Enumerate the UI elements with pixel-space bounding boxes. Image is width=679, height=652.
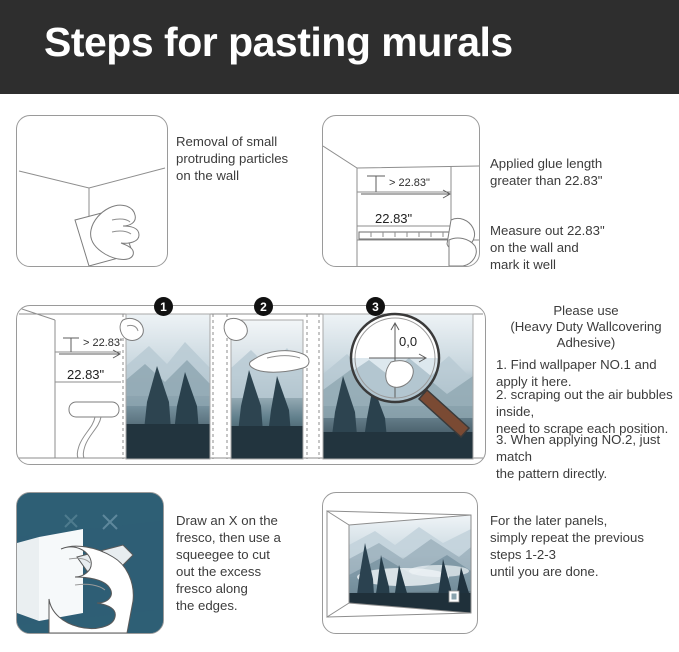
step2-measure-label: 22.83" (375, 211, 413, 226)
step3-measure-label: 22.83" (67, 367, 105, 382)
step3-item-2: 2. scraping out the air bubbles inside, … (496, 386, 679, 437)
wall-corner-wipe-icon (17, 116, 167, 266)
step1-caption: Removal of small protruding particles on… (176, 133, 326, 184)
header-bar: Steps for pasting murals (0, 0, 679, 94)
step4-illustration-panel (16, 492, 164, 634)
step3-item-1: 1. Find wallpaper NO.1 and apply it here… (496, 356, 679, 390)
step-badge-3: 3 (366, 297, 385, 316)
step2-caption-a: Applied glue length greater than 22.83" (490, 155, 670, 189)
step1-illustration-panel (16, 115, 168, 267)
step5-illustration-panel (322, 492, 478, 634)
step-badge-1: 1 (154, 297, 173, 316)
wall-panels-roller-magnifier-icon: > 22.83" 22.83" (17, 306, 485, 464)
step-badge-2: 2 (254, 297, 273, 316)
step3-heading-line1: Please use (553, 303, 618, 318)
hand-squeegee-cut-x-icon (17, 493, 163, 633)
step3-heading-line2: (Heavy Duty Wallcovering Adhesive) (510, 319, 661, 350)
step5-caption: For the later panels, simply repeat the … (490, 512, 679, 580)
magnifier-origin-label: 0,0 (399, 334, 417, 349)
step2-gt-label: > 22.83" (389, 177, 430, 189)
step4-caption: Draw an X on the fresco, then use a sque… (176, 512, 336, 614)
step3-heading: Please use(Heavy Duty Wallcovering Adhes… (496, 303, 676, 351)
finished-room-mural-icon (323, 493, 477, 633)
step3-gt-label: > 22.83" (83, 337, 124, 349)
step3-item-3: 3. When applying NO.2, just match the pa… (496, 431, 679, 482)
wall-measure-mark-icon: > 22.83" 22.83" (323, 116, 479, 266)
step3-illustration-panel: > 22.83" 22.83" (16, 305, 486, 465)
page-title: Steps for pasting murals (44, 19, 513, 66)
step2-caption-b: Measure out 22.83" on the wall and mark … (490, 222, 670, 273)
step2-illustration-panel: > 22.83" 22.83" (322, 115, 480, 267)
